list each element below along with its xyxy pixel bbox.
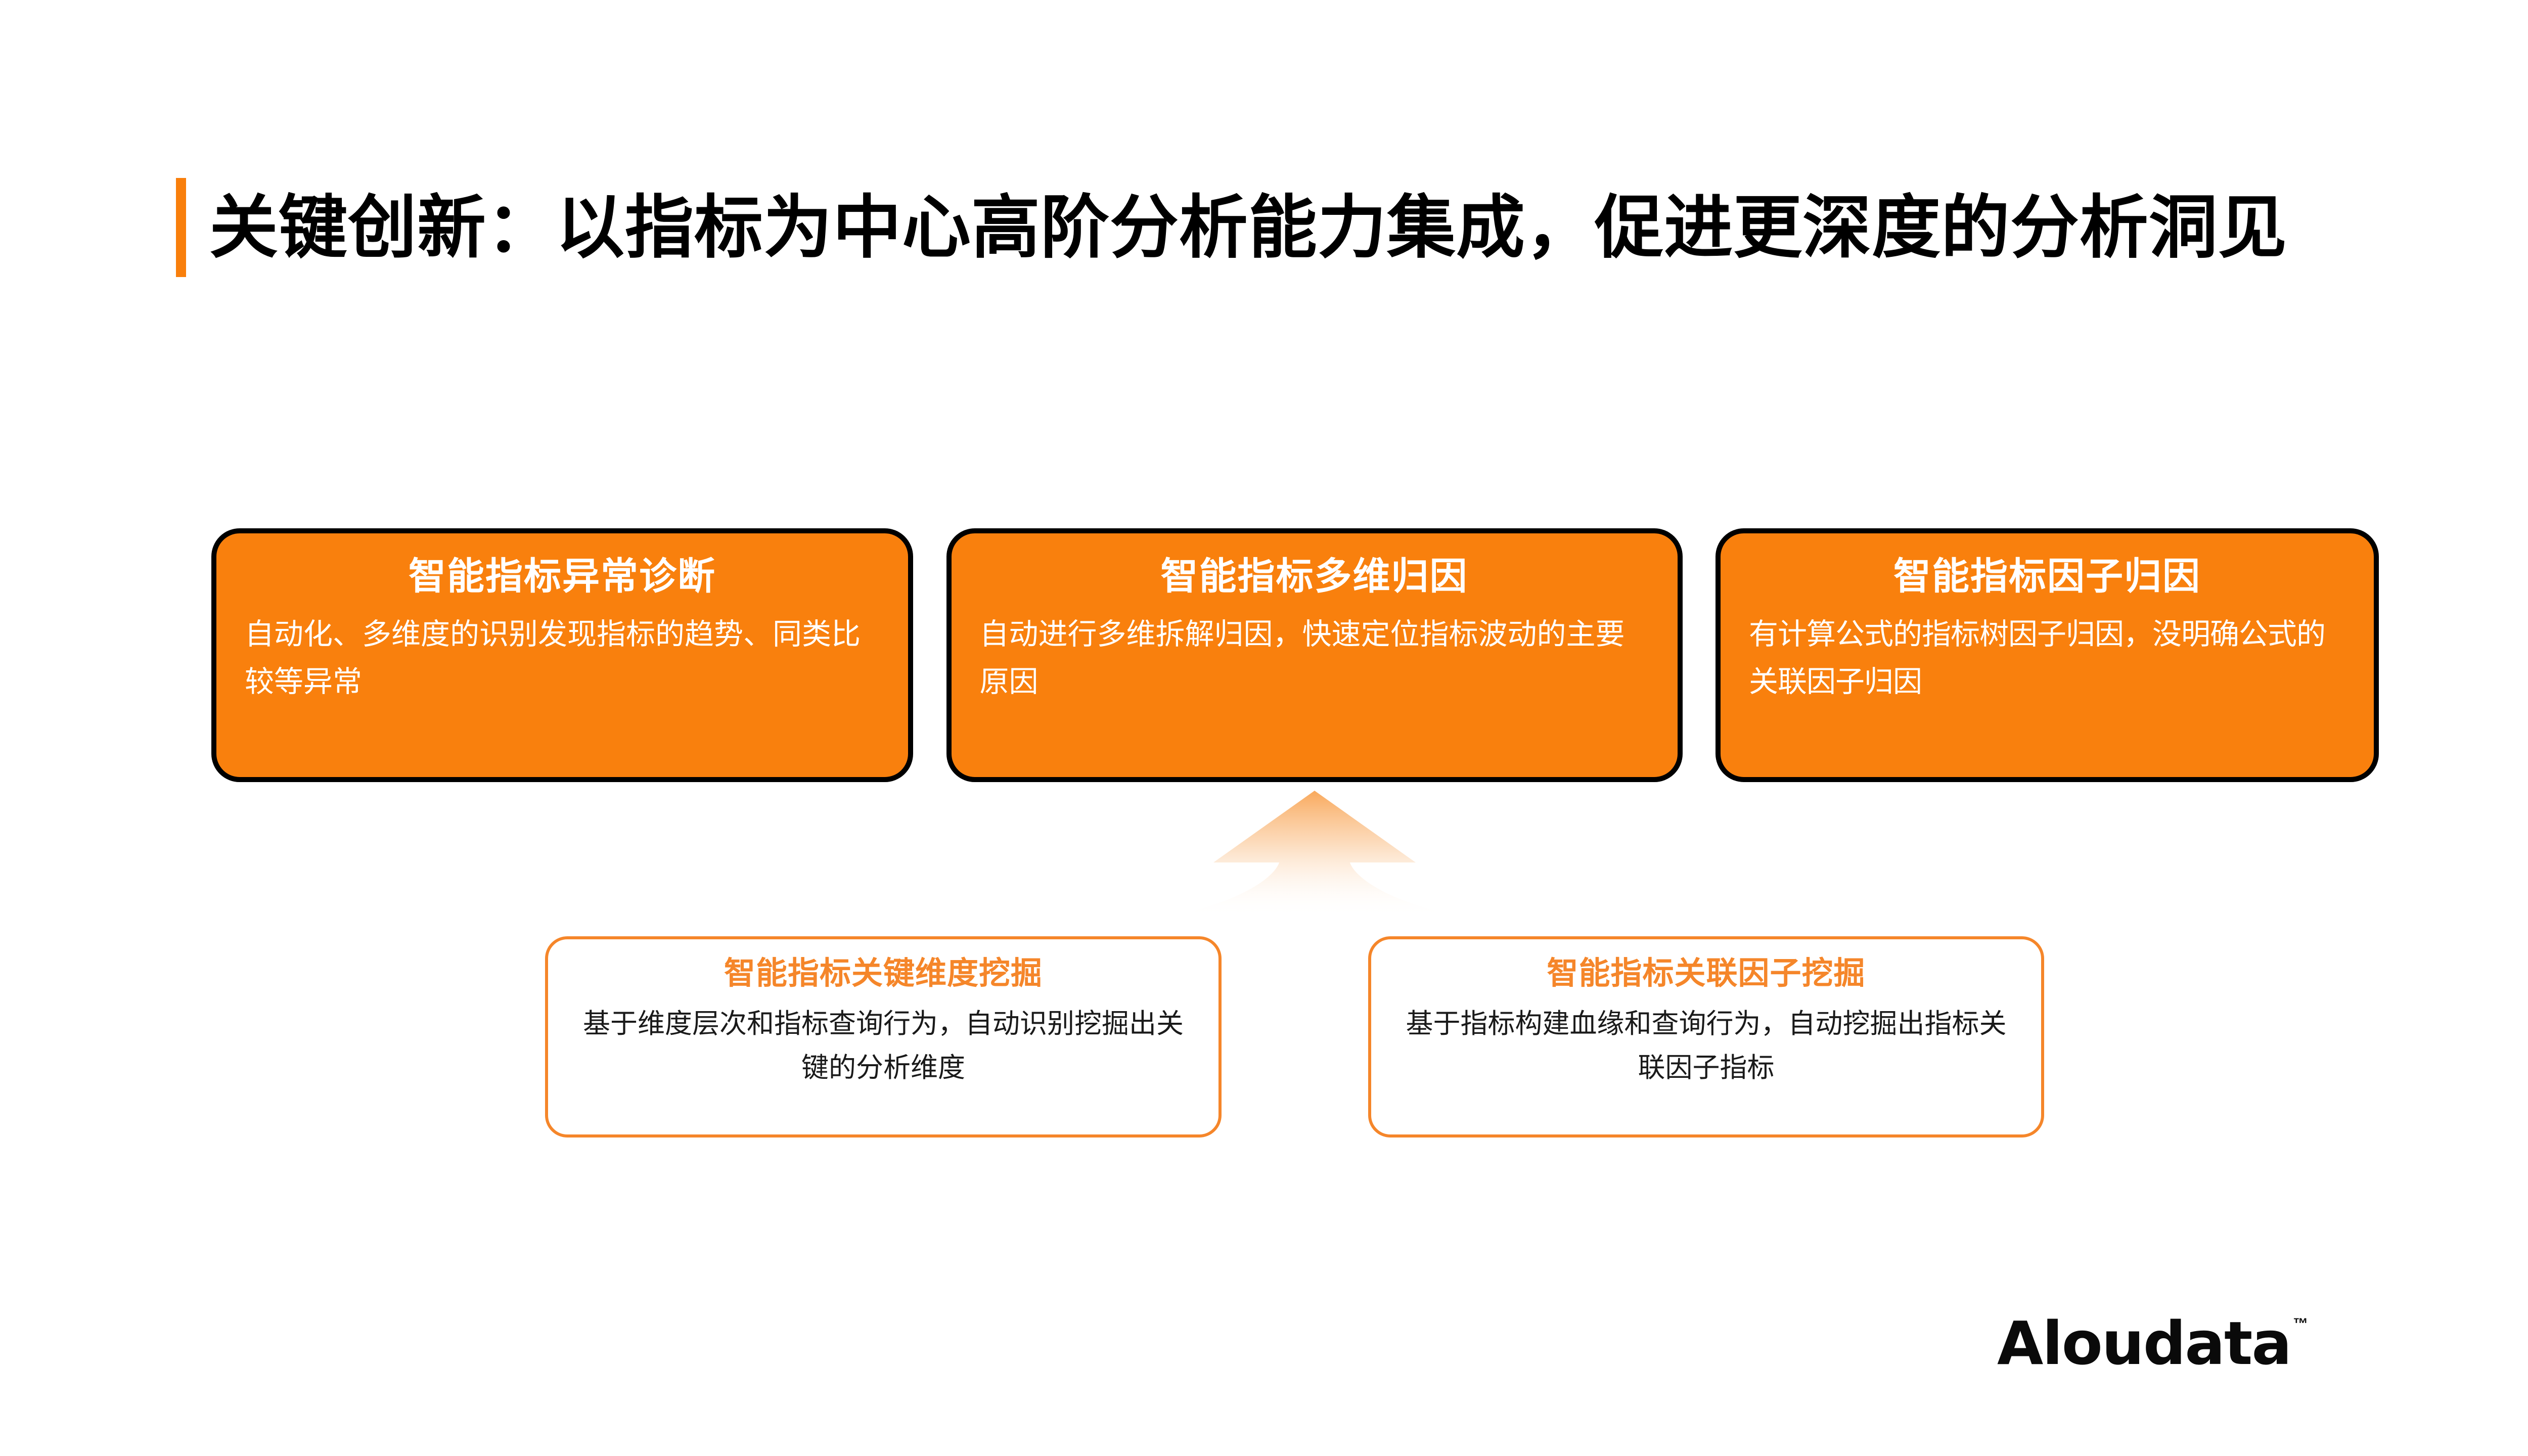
card-heading: 智能指标关键维度挖掘	[573, 957, 1193, 991]
card-related-factor-mining[interactable]: 智能指标关联因子挖掘 基于指标构建血缘和查询行为，自动挖掘出指标关联因子指标	[1368, 936, 2044, 1137]
page-title-text: 关键创新：以指标为中心高阶分析能力集成，促进更深度的分析洞见	[209, 193, 2287, 262]
title-accent-bar	[176, 178, 186, 277]
page-title: 关键创新：以指标为中心高阶分析能力集成，促进更深度的分析洞见	[176, 178, 2287, 277]
card-heading: 智能指标关联因子挖掘	[1396, 957, 2016, 991]
aloudata-logo: Aloudata ™	[1997, 1313, 2308, 1373]
card-body: 自动进行多维拆解归因，快速定位指标波动的主要原因	[980, 611, 1649, 706]
card-body: 有计算公式的指标树因子归因，没明确公式的关联因子归因	[1749, 611, 2345, 706]
card-heading: 智能指标因子归因	[1749, 556, 2345, 598]
card-body: 基于维度层次和指标查询行为，自动识别挖掘出关键的分析维度	[573, 1002, 1193, 1089]
logo-wordmark: Aloudata	[1997, 1313, 2291, 1373]
card-body: 自动化、多维度的识别发现指标的趋势、同类比较等异常	[245, 611, 880, 706]
card-factor-attribution[interactable]: 智能指标因子归因 有计算公式的指标树因子归因，没明确公式的关联因子归因	[1716, 528, 2379, 782]
trademark-icon: ™	[2293, 1316, 2308, 1332]
top-card-row: 智能指标异常诊断 自动化、多维度的识别发现指标的趋势、同类比较等异常 智能指标多…	[211, 528, 2379, 782]
card-anomaly-diagnosis[interactable]: 智能指标异常诊断 自动化、多维度的识别发现指标的趋势、同类比较等异常	[211, 528, 913, 782]
card-multidim-attribution[interactable]: 智能指标多维归因 自动进行多维拆解归因，快速定位指标波动的主要原因	[946, 528, 1683, 782]
card-key-dimension-mining[interactable]: 智能指标关键维度挖掘 基于维度层次和指标查询行为，自动识别挖掘出关键的分析维度	[545, 936, 1222, 1137]
upward-arrow-icon	[1178, 788, 1451, 919]
card-heading: 智能指标多维归因	[980, 556, 1649, 598]
card-heading: 智能指标异常诊断	[245, 556, 880, 598]
card-body: 基于指标构建血缘和查询行为，自动挖掘出指标关联因子指标	[1396, 1002, 2016, 1089]
slide-canvas: 关键创新：以指标为中心高阶分析能力集成，促进更深度的分析洞见 智能指标异常诊断 …	[0, 0, 2528, 1456]
bottom-card-row: 智能指标关键维度挖掘 基于维度层次和指标查询行为，自动识别挖掘出关键的分析维度 …	[545, 936, 2044, 1137]
